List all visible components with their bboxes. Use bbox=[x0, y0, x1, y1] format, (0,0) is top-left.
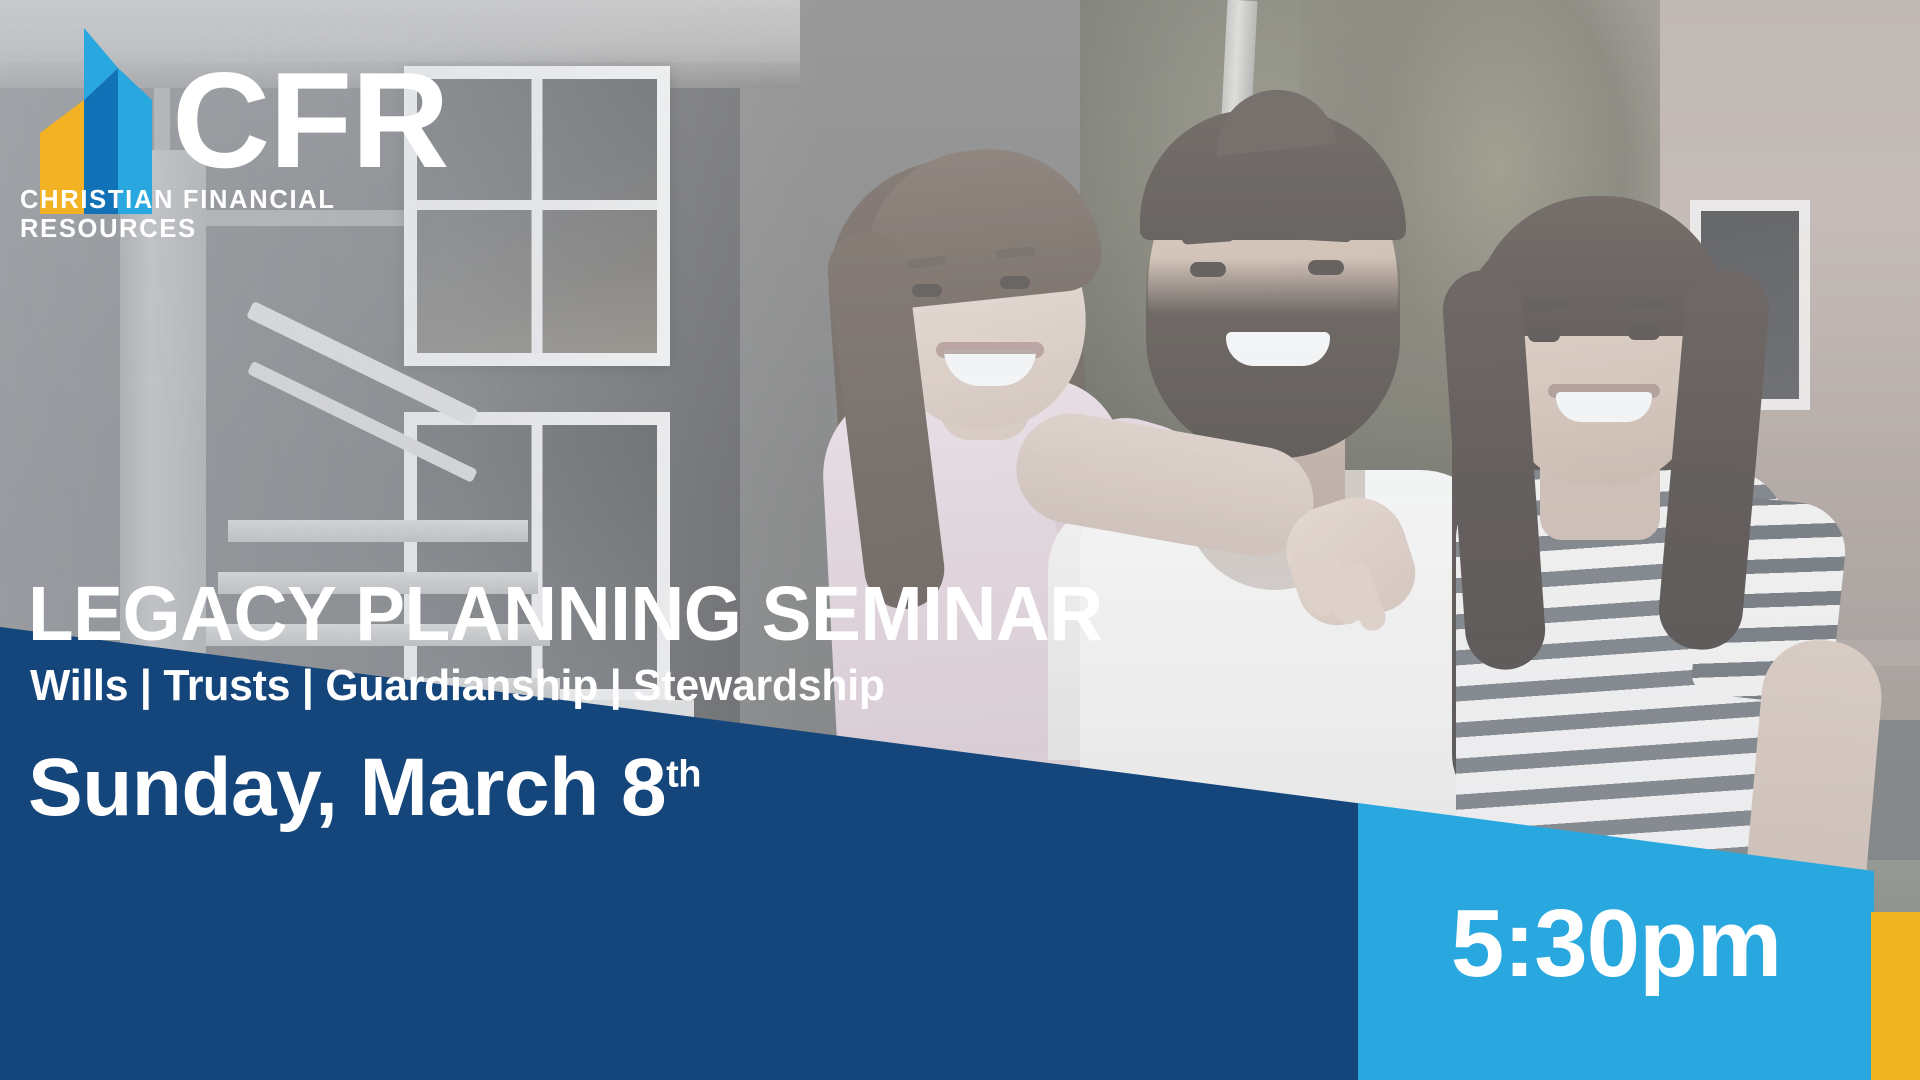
event-date-ordinal: th bbox=[666, 754, 701, 796]
headline: LEGACY PLANNING SEMINAR bbox=[28, 574, 1103, 654]
subheadline: Wills | Trusts | Guardianship | Stewards… bbox=[30, 660, 885, 712]
event-time: 5:30pm bbox=[1451, 896, 1781, 992]
event-date: Sunday, March 8th bbox=[28, 742, 701, 834]
poster-canvas: CFR CHRISTIAN FINANCIAL RESOURCES LEGACY… bbox=[0, 0, 1920, 1080]
time-badge-text-wrap: 5:30pm bbox=[1358, 803, 1874, 1080]
banner-text-group: LEGACY PLANNING SEMINAR Wills | Trusts |… bbox=[0, 560, 1372, 1080]
logo-tagline: CHRISTIAN FINANCIAL RESOURCES bbox=[20, 186, 470, 244]
yellow-accent-strip bbox=[1871, 912, 1920, 1080]
brand-logo[interactable]: CFR CHRISTIAN FINANCIAL RESOURCES bbox=[0, 0, 470, 240]
logo-acronym: CFR bbox=[172, 52, 449, 188]
event-date-text: Sunday, March 8 bbox=[28, 742, 666, 833]
